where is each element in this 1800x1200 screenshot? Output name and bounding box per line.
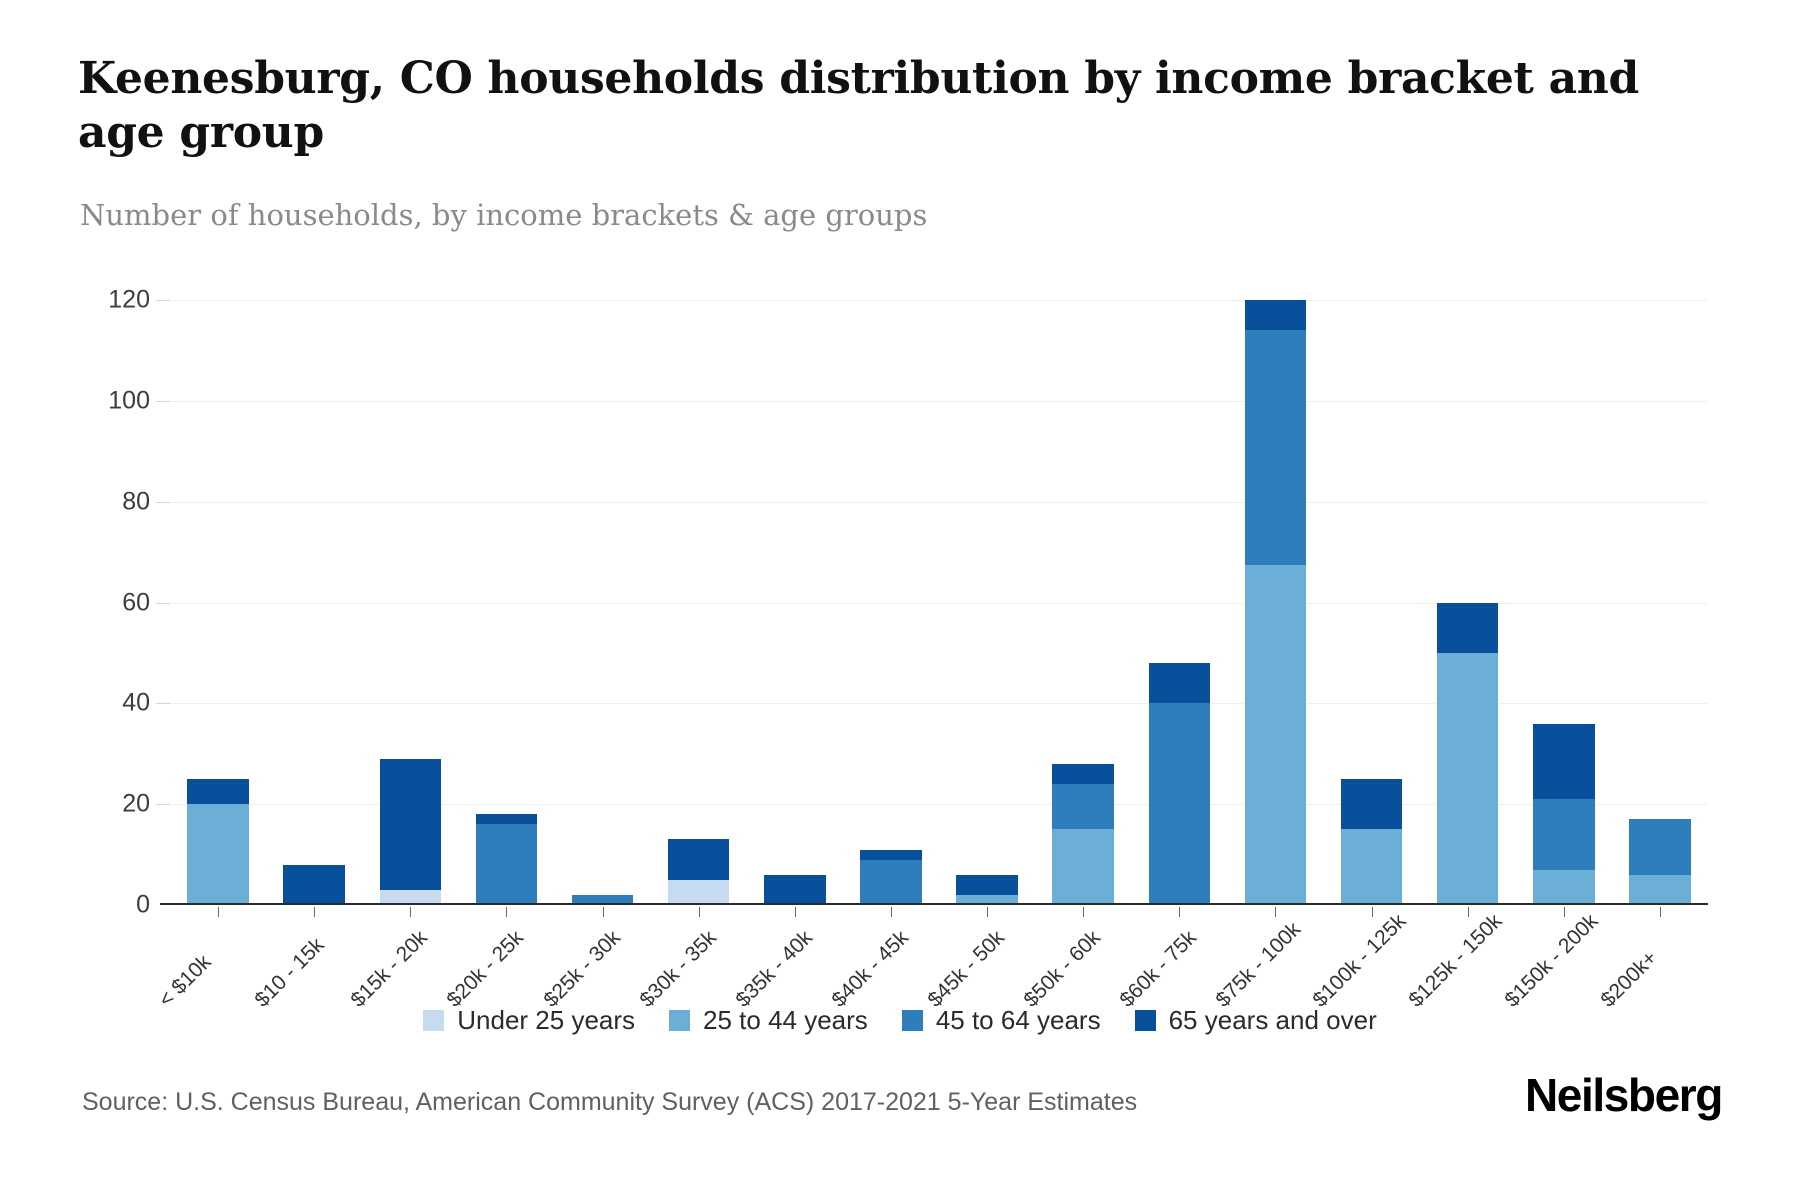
chart-legend: Under 25 years25 to 44 years45 to 64 yea… [0, 1005, 1800, 1036]
y-axis-tick-mark [156, 502, 170, 503]
bar-category[interactable]: $40k - 45k [843, 300, 939, 905]
bar-category[interactable]: $45k - 50k [939, 300, 1035, 905]
bar-segment[interactable] [187, 779, 249, 804]
x-axis-tick-label: $75k - 100k [1212, 918, 1307, 1013]
bar-segment[interactable] [764, 875, 826, 905]
bar-category[interactable]: $60k - 75k [1131, 300, 1227, 905]
x-axis-tick-mark [314, 907, 315, 917]
y-axis-tick-label: 60 [60, 588, 150, 617]
bar-stack[interactable] [1245, 300, 1307, 905]
x-axis-tick-mark [410, 907, 411, 917]
bar-stack[interactable] [1149, 300, 1211, 905]
bar-segment[interactable] [1533, 724, 1595, 800]
page-title: Keenesburg, CO households distribution b… [78, 52, 1698, 159]
bar-stack[interactable] [380, 300, 442, 905]
y-axis-tick-mark [156, 804, 170, 805]
x-axis-tick-label: $35k - 40k [731, 926, 817, 1012]
bar-stack[interactable] [1629, 300, 1691, 905]
bar-group: < $10k$10 - 15k$15k - 20k$20k - 25k$25k … [170, 300, 1708, 905]
bar-category[interactable]: $20k - 25k [458, 300, 554, 905]
y-axis-tick-mark [156, 401, 170, 402]
bar-category[interactable]: $100k - 125k [1324, 300, 1420, 905]
bar-segment[interactable] [1629, 875, 1691, 905]
bar-segment[interactable] [1149, 663, 1211, 703]
legend-item[interactable]: 65 years and over [1135, 1005, 1377, 1036]
bar-category[interactable]: $25k - 30k [555, 300, 651, 905]
bar-category[interactable]: $200k+ [1612, 300, 1708, 905]
bar-segment[interactable] [476, 814, 538, 824]
bar-category[interactable]: $150k - 200k [1516, 300, 1612, 905]
y-axis-tick-label: 20 [60, 790, 150, 819]
bar-stack[interactable] [572, 300, 634, 905]
bar-segment[interactable] [1341, 779, 1403, 829]
bar-segment[interactable] [1052, 829, 1114, 905]
source-note: Source: U.S. Census Bureau, American Com… [82, 1088, 1137, 1117]
x-axis-tick-label: $60k - 75k [1116, 926, 1202, 1012]
legend-swatch-icon [902, 1010, 923, 1031]
bar-category[interactable]: < $10k [170, 300, 266, 905]
x-axis-tick-label: $50k - 60k [1020, 926, 1106, 1012]
x-axis-tick-mark [218, 907, 219, 917]
x-axis-tick-label: $200k+ [1596, 946, 1662, 1012]
y-axis-tick-label: 100 [60, 386, 150, 415]
legend-label: Under 25 years [457, 1005, 635, 1036]
bar-stack[interactable] [476, 300, 538, 905]
legend-label: 45 to 64 years [936, 1005, 1101, 1036]
bar-segment[interactable] [1437, 603, 1499, 653]
bar-stack[interactable] [1052, 300, 1114, 905]
bar-segment[interactable] [668, 839, 730, 879]
bar-segment[interactable] [1245, 300, 1307, 330]
bar-stack[interactable] [1341, 300, 1403, 905]
y-axis-tick-mark [156, 300, 170, 301]
x-axis-tick-mark [1372, 907, 1373, 917]
x-axis-tick-mark [603, 907, 604, 917]
bar-segment[interactable] [1245, 330, 1307, 565]
y-axis-tick-label: 40 [60, 689, 150, 718]
bar-segment[interactable] [1052, 784, 1114, 829]
y-axis-tick-label: 0 [60, 891, 150, 920]
bar-segment[interactable] [1437, 653, 1499, 905]
bar-segment[interactable] [1533, 799, 1595, 870]
x-axis-tick-label: $45k - 50k [923, 926, 1009, 1012]
bar-category[interactable]: $50k - 60k [1035, 300, 1131, 905]
bar-segment[interactable] [860, 860, 922, 905]
x-axis-tick-mark [987, 907, 988, 917]
bar-category[interactable]: $30k - 35k [651, 300, 747, 905]
bar-segment[interactable] [476, 824, 538, 905]
bar-segment[interactable] [668, 880, 730, 905]
bar-stack[interactable] [283, 300, 345, 905]
page-subtitle: Number of households, by income brackets… [80, 198, 1580, 232]
x-axis-tick-mark [1083, 907, 1084, 917]
bar-segment[interactable] [283, 865, 345, 905]
bar-segment[interactable] [1629, 819, 1691, 874]
x-axis-tick-label: $30k - 35k [635, 926, 721, 1012]
x-axis-tick-mark [1179, 907, 1180, 917]
bar-category[interactable]: $125k - 150k [1420, 300, 1516, 905]
legend-label: 65 years and over [1169, 1005, 1377, 1036]
x-axis-tick-mark [1275, 907, 1276, 917]
bar-category[interactable]: $15k - 20k [362, 300, 458, 905]
x-axis-tick-mark [891, 907, 892, 917]
legend-swatch-icon [423, 1010, 444, 1031]
x-axis-tick-mark [506, 907, 507, 917]
plot-area: < $10k$10 - 15k$15k - 20k$20k - 25k$25k … [170, 300, 1708, 905]
bar-segment[interactable] [1533, 870, 1595, 905]
bar-segment[interactable] [380, 759, 442, 890]
legend-item[interactable]: 45 to 64 years [902, 1005, 1101, 1036]
x-axis-tick-mark [1660, 907, 1661, 917]
bar-segment[interactable] [1245, 565, 1307, 905]
legend-swatch-icon [669, 1010, 690, 1031]
legend-swatch-icon [1135, 1010, 1156, 1031]
x-axis-tick-mark [1564, 907, 1565, 917]
bar-category[interactable]: $35k - 40k [747, 300, 843, 905]
y-axis-tick-mark [156, 603, 170, 604]
bar-segment[interactable] [1149, 703, 1211, 905]
x-axis-tick-mark [1468, 907, 1469, 917]
legend-item[interactable]: Under 25 years [423, 1005, 635, 1036]
x-axis-tick-label: $25k - 30k [539, 926, 625, 1012]
legend-label: 25 to 44 years [703, 1005, 868, 1036]
x-axis-tick-label: $10 - 15k [251, 934, 330, 1013]
y-axis-tick-label: 120 [60, 286, 150, 315]
bar-segment[interactable] [1341, 829, 1403, 905]
bar-category[interactable]: $75k - 100k [1227, 300, 1323, 905]
chart-page: Keenesburg, CO households distribution b… [0, 0, 1800, 1200]
x-axis-tick-label: $15k - 20k [347, 926, 433, 1012]
x-axis-tick-label: < $10k [154, 950, 216, 1012]
bar-stack[interactable] [956, 300, 1018, 905]
bar-segment[interactable] [187, 804, 249, 905]
x-axis-tick-label: $150k - 200k [1500, 910, 1603, 1013]
bar-segment[interactable] [1052, 764, 1114, 784]
bar-segment[interactable] [956, 875, 1018, 895]
bar-stack[interactable] [860, 300, 922, 905]
bar-category[interactable]: $10 - 15k [266, 300, 362, 905]
bar-stack[interactable] [1533, 300, 1595, 905]
y-axis-tick-label: 80 [60, 487, 150, 516]
x-axis-tick-label: $40k - 45k [827, 926, 913, 1012]
x-axis-tick-mark [699, 907, 700, 917]
bar-stack[interactable] [764, 300, 826, 905]
brand-logo: Neilsberg [1525, 1068, 1722, 1122]
x-axis-tick-mark [795, 907, 796, 917]
bar-stack[interactable] [187, 300, 249, 905]
x-axis-tick-label: $100k - 125k [1308, 910, 1411, 1013]
legend-item[interactable]: 25 to 44 years [669, 1005, 868, 1036]
y-axis-tick-mark [156, 703, 170, 704]
x-axis-tick-label: $125k - 150k [1404, 910, 1507, 1013]
x-axis-tick-label: $20k - 25k [443, 926, 529, 1012]
x-axis-line [160, 903, 1708, 905]
bar-stack[interactable] [1437, 300, 1499, 905]
bar-segment[interactable] [860, 850, 922, 860]
bar-stack[interactable] [668, 300, 730, 905]
